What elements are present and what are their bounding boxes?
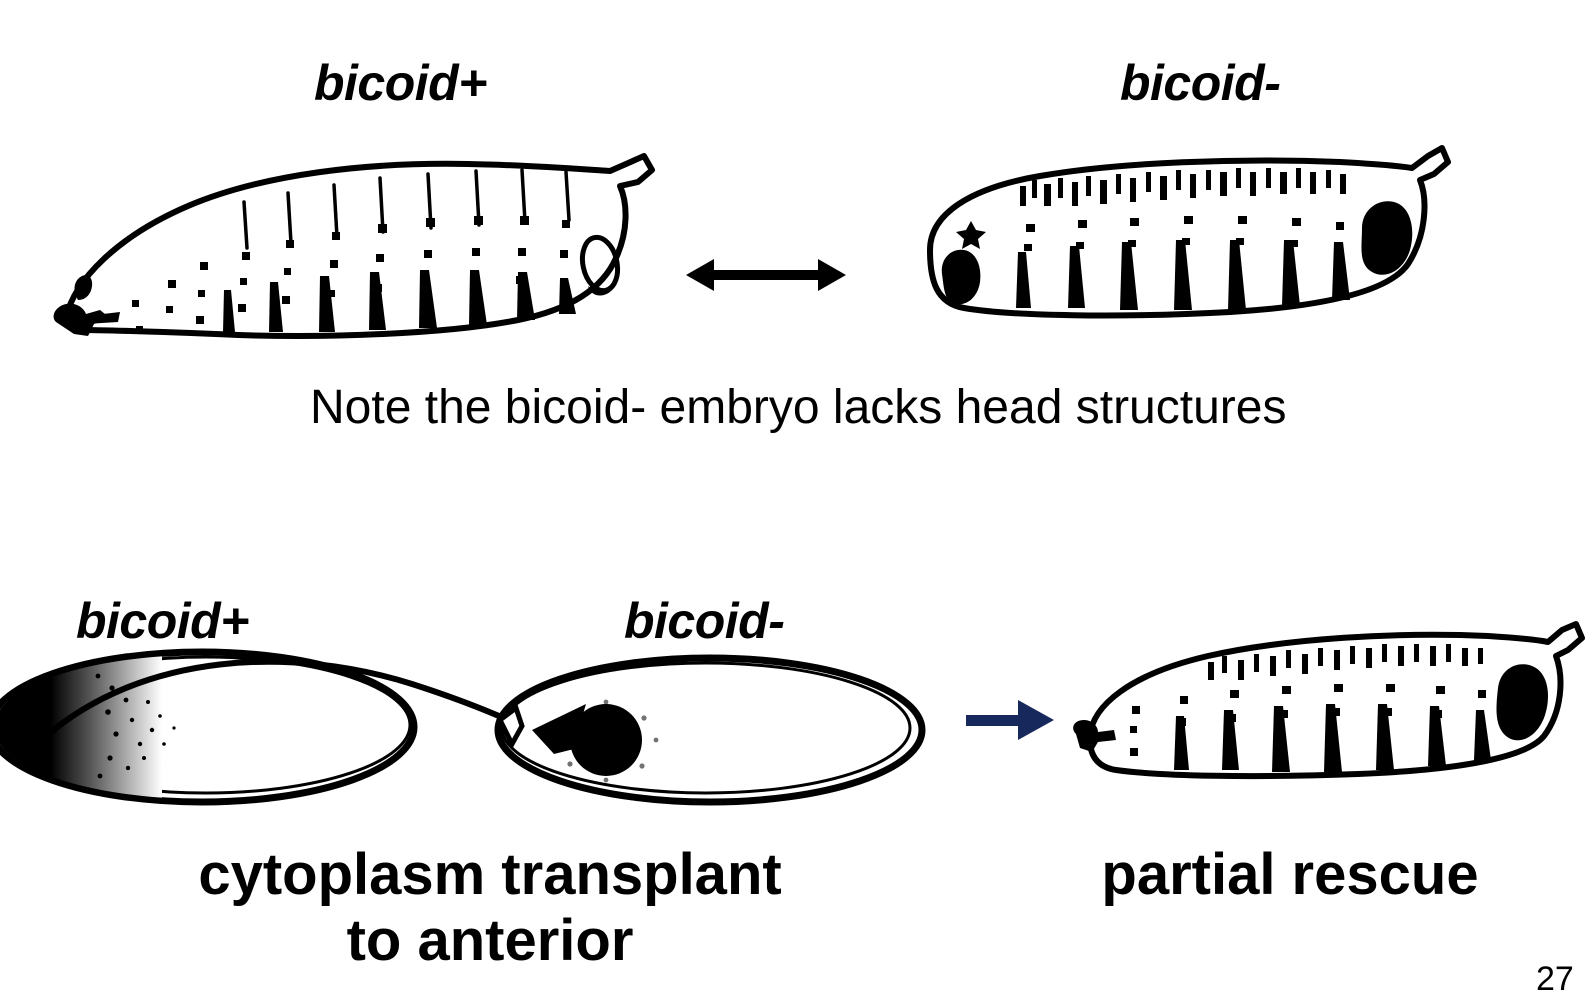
double-headed-arrow — [686, 252, 846, 298]
cuticle-speckles — [132, 216, 570, 333]
segment-lines — [244, 170, 569, 248]
anterior-star-mark — [956, 221, 986, 249]
right-arrow — [966, 696, 1054, 744]
caption-cytoplasm-transplant-line1: cytoplasm transplant — [180, 846, 800, 904]
posterior-spiracle — [1496, 664, 1548, 740]
caption-cytoplasm-transplant-line2: to anterior — [180, 912, 800, 970]
larva-head-structures — [54, 275, 120, 336]
caption-partial-rescue: partial rescue — [1020, 846, 1560, 904]
label-bicoid-plus-top: bicoid+ — [314, 58, 487, 108]
injected-cytoplasm-blob — [570, 704, 642, 776]
slide-canvas: bicoid+ bicoid- — [0, 0, 1596, 1008]
bicoid-plus-larva-figure — [48, 140, 673, 355]
transplant-figure — [0, 612, 952, 822]
bicoid-plus-larva-svg — [48, 140, 673, 355]
bicoid-minus-larva-svg — [900, 140, 1460, 330]
note-text: Note the bicoid- embryo lacks head struc… — [310, 384, 1286, 432]
page-number: 27 — [1536, 962, 1574, 996]
recipient-embryo — [498, 658, 922, 802]
partial-rescue-larva-figure — [1058, 612, 1586, 792]
bicoid-minus-larva-figure — [900, 140, 1460, 330]
transplant-svg — [0, 612, 952, 822]
partial-rescue-larva-svg — [1058, 612, 1586, 792]
anterior-spiracle-blob — [942, 250, 981, 305]
rescued-head-structure — [1073, 720, 1116, 752]
denticle-belts — [1016, 240, 1350, 310]
label-bicoid-minus-top: bicoid- — [1120, 58, 1280, 108]
